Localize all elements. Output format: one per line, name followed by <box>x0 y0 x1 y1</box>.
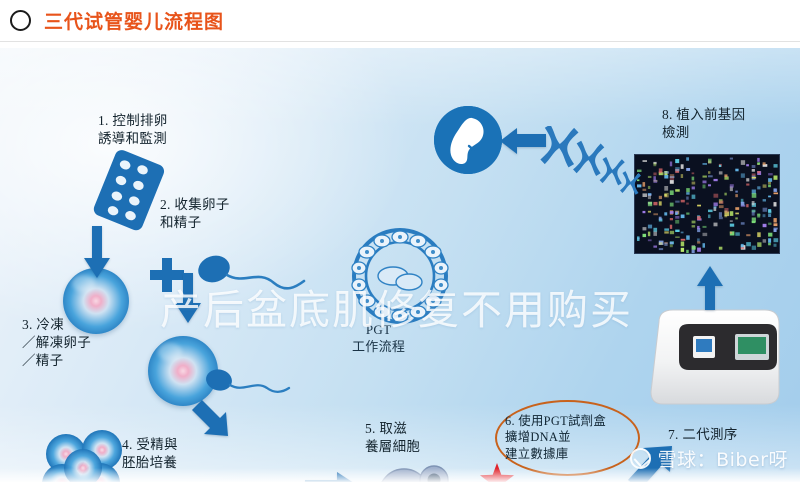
page-header: 三代试管婴儿流程图 <box>0 0 800 42</box>
overlay-watermark-text: 产后盆底肌修复不用购买 <box>160 276 633 336</box>
fetus-icon <box>434 106 502 174</box>
step-6-label: 6. 使用PGT試劑盒 擴增DNA並 建立數據庫 <box>505 413 606 462</box>
genome-array-icon <box>634 154 780 254</box>
arrow-diag-to-embryo <box>190 400 242 450</box>
screenshot-root: 三代试管婴儿流程图 1. 控制排卵 誘導和監測 3. 冷凍 <box>0 0 800 482</box>
step-2-label: 2. 收集卵子 和精子 <box>160 196 230 232</box>
circle-outline-icon <box>10 10 31 31</box>
corner-watermark: 雪球：Biber呀 <box>630 445 788 472</box>
step-3-label: 3. 冷凍 ／解凍卵子 ／精子 <box>22 316 91 369</box>
step-5-label: 5. 取滋 養層細胞 <box>365 420 420 456</box>
diagram-canvas: 1. 控制排卵 誘導和監測 3. 冷凍 ／解凍卵子 ／精子 2. 收集卵子 和精… <box>0 48 800 482</box>
corner-watermark-text: 雪球：Biber呀 <box>658 445 788 472</box>
step-1-label: 1. 控制排卵 誘導和監測 <box>98 112 168 148</box>
step-7-label: 7. 二代測序 <box>668 426 738 444</box>
sequencer-icon <box>645 306 787 415</box>
chromosome-icon <box>540 126 648 215</box>
arrow-left-to-fetus <box>500 128 546 154</box>
arrow-down-step1 <box>84 226 110 278</box>
step-8-label: 8. 植入前基因 檢測 <box>662 106 745 142</box>
page-title: 三代试管婴儿流程图 <box>44 7 224 34</box>
step-4-label: 4. 受精與 胚胎培養 <box>122 436 178 472</box>
arrow-up-to-step8 <box>697 266 723 310</box>
xueqiu-logo-icon <box>630 448 651 469</box>
